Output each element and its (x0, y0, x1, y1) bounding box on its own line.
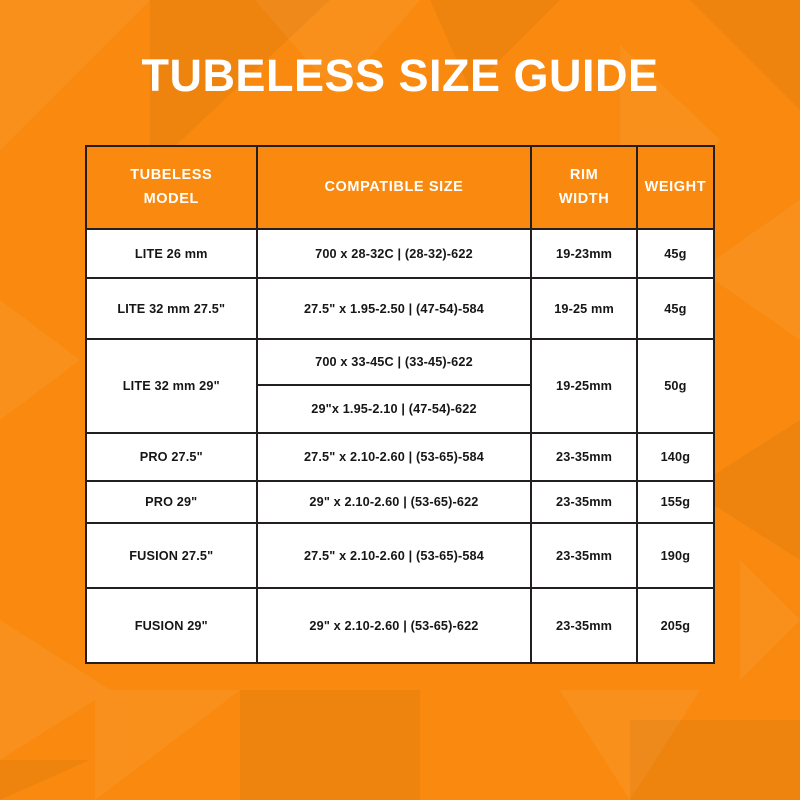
cell-weight: 140g (637, 433, 714, 481)
cell-rim-width: 23-35mm (531, 523, 636, 588)
table-header-row: TUBELESS MODEL COMPATIBLE SIZE RIM WIDTH… (86, 146, 714, 229)
cell-model: LITE 26 mm (86, 229, 257, 278)
header-rim-line1: RIM (570, 167, 598, 183)
cell-weight: 45g (637, 229, 714, 278)
cell-rim-width: 19-25mm (531, 339, 636, 433)
cell-model: PRO 29" (86, 481, 257, 523)
table-row: LITE 32 mm 29" 700 x 33-45C | (33-45)-62… (86, 339, 714, 433)
page-title: TUBELESS SIZE GUIDE (0, 52, 800, 99)
column-header-weight: WEIGHT (637, 146, 714, 229)
cell-rim-width: 23-35mm (531, 433, 636, 481)
cell-model: LITE 32 mm 27.5" (86, 278, 257, 339)
cell-compatible-size: 27.5" x 2.10-2.60 | (53-65)-584 (257, 433, 532, 481)
tubeless-size-table: TUBELESS MODEL COMPATIBLE SIZE RIM WIDTH… (85, 145, 715, 664)
cell-model: PRO 27.5" (86, 433, 257, 481)
cell-rim-width: 23-35mm (531, 588, 636, 663)
cell-compatible-size: 27.5" x 1.95-2.50 | (47-54)-584 (257, 278, 532, 339)
table-row: LITE 32 mm 27.5" 27.5" x 1.95-2.50 | (47… (86, 278, 714, 339)
infographic-page: TUBELESS SIZE GUIDE TUBELESS MODEL COMPA… (0, 0, 800, 800)
header-model-line2: MODEL (144, 191, 199, 207)
table-row: FUSION 29" 29" x 2.10-2.60 | (53-65)-622… (86, 588, 714, 663)
cell-compatible-size: 700 x 28-32C | (28-32)-622 (257, 229, 532, 278)
cell-model: FUSION 29" (86, 588, 257, 663)
table-row: PRO 29" 29" x 2.10-2.60 | (53-65)-622 23… (86, 481, 714, 523)
column-header-tubeless-model: TUBELESS MODEL (86, 146, 257, 229)
cell-weight: 155g (637, 481, 714, 523)
table-row: LITE 26 mm 700 x 28-32C | (28-32)-622 19… (86, 229, 714, 278)
cell-model: LITE 32 mm 29" (86, 339, 257, 433)
table-row: PRO 27.5" 27.5" x 2.10-2.60 | (53-65)-58… (86, 433, 714, 481)
column-header-compatible-size: COMPATIBLE SIZE (257, 146, 532, 229)
cell-compatible-size: 700 x 33-45C | (33-45)-622 (258, 340, 531, 386)
header-model-line1: TUBELESS (130, 167, 212, 183)
cell-model: FUSION 27.5" (86, 523, 257, 588)
cell-compatible-size: 27.5" x 2.10-2.60 | (53-65)-584 (257, 523, 532, 588)
column-header-rim-width: RIM WIDTH (531, 146, 636, 229)
cell-weight: 205g (637, 588, 714, 663)
cell-compatible-size: 29" x 2.10-2.60 | (53-65)-622 (257, 481, 532, 523)
cell-compatible-size-group: 700 x 33-45C | (33-45)-622 29"x 1.95-2.1… (257, 339, 532, 433)
cell-rim-width: 19-25 mm (531, 278, 636, 339)
cell-rim-width: 19-23mm (531, 229, 636, 278)
cell-compatible-size: 29"x 1.95-2.10 | (47-54)-622 (258, 386, 531, 432)
cell-weight: 190g (637, 523, 714, 588)
cell-rim-width: 23-35mm (531, 481, 636, 523)
table-row: FUSION 27.5" 27.5" x 2.10-2.60 | (53-65)… (86, 523, 714, 588)
header-rim-line2: WIDTH (559, 191, 610, 207)
cell-weight: 45g (637, 278, 714, 339)
cell-weight: 50g (637, 339, 714, 433)
cell-compatible-size: 29" x 2.10-2.60 | (53-65)-622 (257, 588, 532, 663)
